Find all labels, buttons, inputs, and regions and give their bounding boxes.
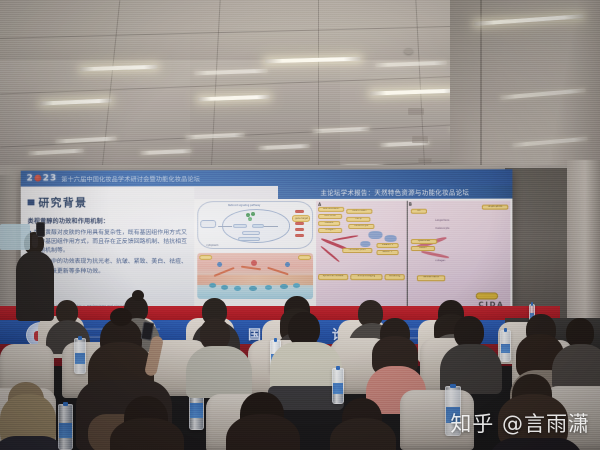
ceiling-light (375, 61, 447, 68)
ceiling-light (80, 65, 158, 72)
slide-bullet-item: 在皮肤中的功效表现为抗光老、抗皱、紧致、美白、祛痘、促进皮肤更新等多种功效。 (33, 258, 187, 276)
slide-banner: 223 第十六届中国化妆品学术研讨会暨功能化妆品论坛 (21, 169, 513, 186)
ceiling-light (40, 98, 112, 105)
water-bottle (74, 338, 86, 374)
water-bottle (332, 368, 344, 404)
slide-subheader-text: 主论坛学术报告：天然特色资源与功能化妆品论坛 (320, 188, 469, 197)
figure-cell-schematic: Retinoid signaling pathway gene target c… (197, 201, 313, 249)
side-monitor (0, 224, 30, 250)
soffit-edge (480, 0, 482, 178)
projection-screen: 223 第十六届中国化妆品学术研讨会暨功能化妆品论坛 主论坛学术报告：天然特色资… (21, 169, 513, 310)
ceiling-vent (412, 136, 428, 143)
slide-banner-year: 223 (27, 174, 58, 184)
ceiling-vent (418, 158, 432, 164)
slide-subheader-bar: 主论坛学术报告：天然特色资源与功能化妆品论坛 (278, 185, 512, 199)
conference-photo-scene: 223 第十六届中国化妆品学术研讨会暨功能化妆品论坛 主论坛学术报告：天然特色资… (0, 0, 600, 450)
slide-badge-icon (476, 292, 498, 299)
figure-skin-cross-section (197, 253, 313, 299)
ceiling-vent (408, 108, 424, 115)
bullet-square-icon (28, 199, 35, 205)
ceiling-speaker-icon (404, 48, 413, 54)
slide-heading-row: 研究背景 (28, 194, 188, 210)
ceiling-light (370, 88, 460, 95)
water-bottle (500, 330, 511, 362)
slide-bullet-item: 类视黄醇对皮肤的作用具有复杂性，既有基因组作用方式又有非基因组作用方式，而且存在… (33, 229, 187, 256)
ceiling-light (28, 149, 84, 156)
slide-heading: 研究背景 (38, 194, 87, 210)
ceiling-light (140, 149, 192, 155)
slide-subheading: 类视黄醇的功效和作用机制： (28, 216, 188, 225)
water-bottle (58, 404, 73, 450)
slide-banner-title: 第十六届中国化妆品学术研讨会暨功能化妆品论坛 (61, 174, 200, 183)
figure-panel-b-label: B (409, 202, 412, 207)
watermark: 知乎 @言雨潇 (450, 408, 590, 438)
slide-figure-column: Retinoid signaling pathway gene target c… (194, 199, 512, 311)
